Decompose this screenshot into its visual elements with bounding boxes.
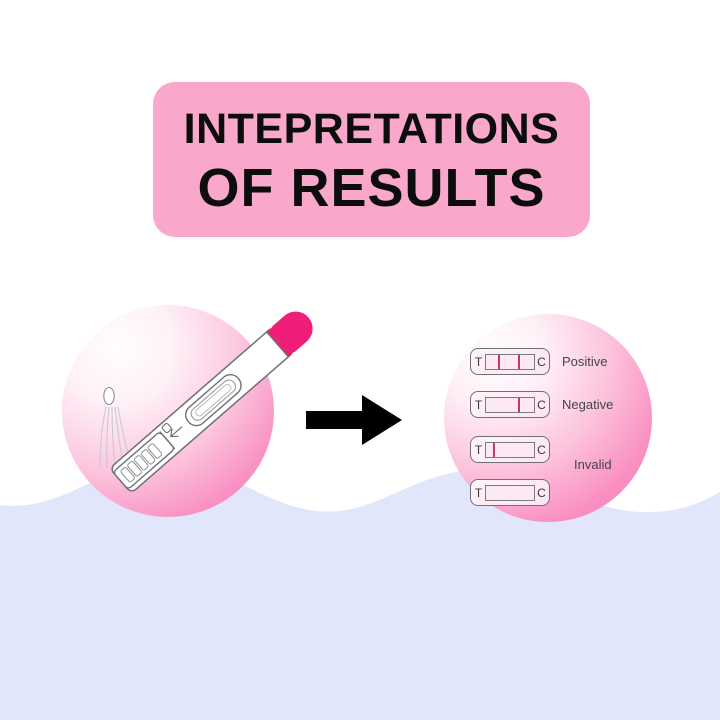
strip-letter-t: T xyxy=(474,444,483,456)
urine-droplet-icon xyxy=(104,388,114,405)
strip-window xyxy=(485,485,535,501)
test-band xyxy=(493,443,495,457)
strip-letter-c: C xyxy=(537,399,546,411)
test-strip-positive: T C xyxy=(470,348,550,375)
strip-window xyxy=(485,397,535,413)
control-band xyxy=(518,355,520,369)
strip-window xyxy=(485,354,535,370)
strip-letter-c: C xyxy=(537,444,546,456)
page-title-line-2: OF RESULTS xyxy=(197,161,545,215)
test-band xyxy=(498,355,500,369)
result-row-invalid-b[interactable]: T C xyxy=(470,479,550,506)
strip-window xyxy=(485,442,535,458)
strip-letter-t: T xyxy=(474,399,483,411)
test-strip-invalid-blank: T C xyxy=(470,479,550,506)
flow-arrow-icon xyxy=(306,393,402,447)
control-band xyxy=(518,398,520,412)
results-legend: T C Positive T C Negative T xyxy=(470,348,645,506)
poster-canvas: INTEPRETATIONS OF RESULTS xyxy=(0,0,720,720)
result-row-negative[interactable]: T C Negative xyxy=(470,391,613,418)
test-strip-invalid-test-only: T C xyxy=(470,436,550,463)
strip-letter-t: T xyxy=(474,487,483,499)
result-row-positive[interactable]: T C Positive xyxy=(470,348,608,375)
page-title-line-1: INTEPRETATIONS xyxy=(184,108,560,151)
result-label-invalid: Invalid xyxy=(574,458,612,471)
strip-letter-c: C xyxy=(537,487,546,499)
page-title-banner: INTEPRETATIONS OF RESULTS xyxy=(153,82,590,237)
result-label-positive: Positive xyxy=(562,355,608,368)
strip-letter-t: T xyxy=(474,356,483,368)
strip-letter-c: C xyxy=(537,356,546,368)
test-strip-negative: T C xyxy=(470,391,550,418)
result-row-invalid-a[interactable]: T C xyxy=(470,436,550,463)
result-label-negative: Negative xyxy=(562,398,613,411)
